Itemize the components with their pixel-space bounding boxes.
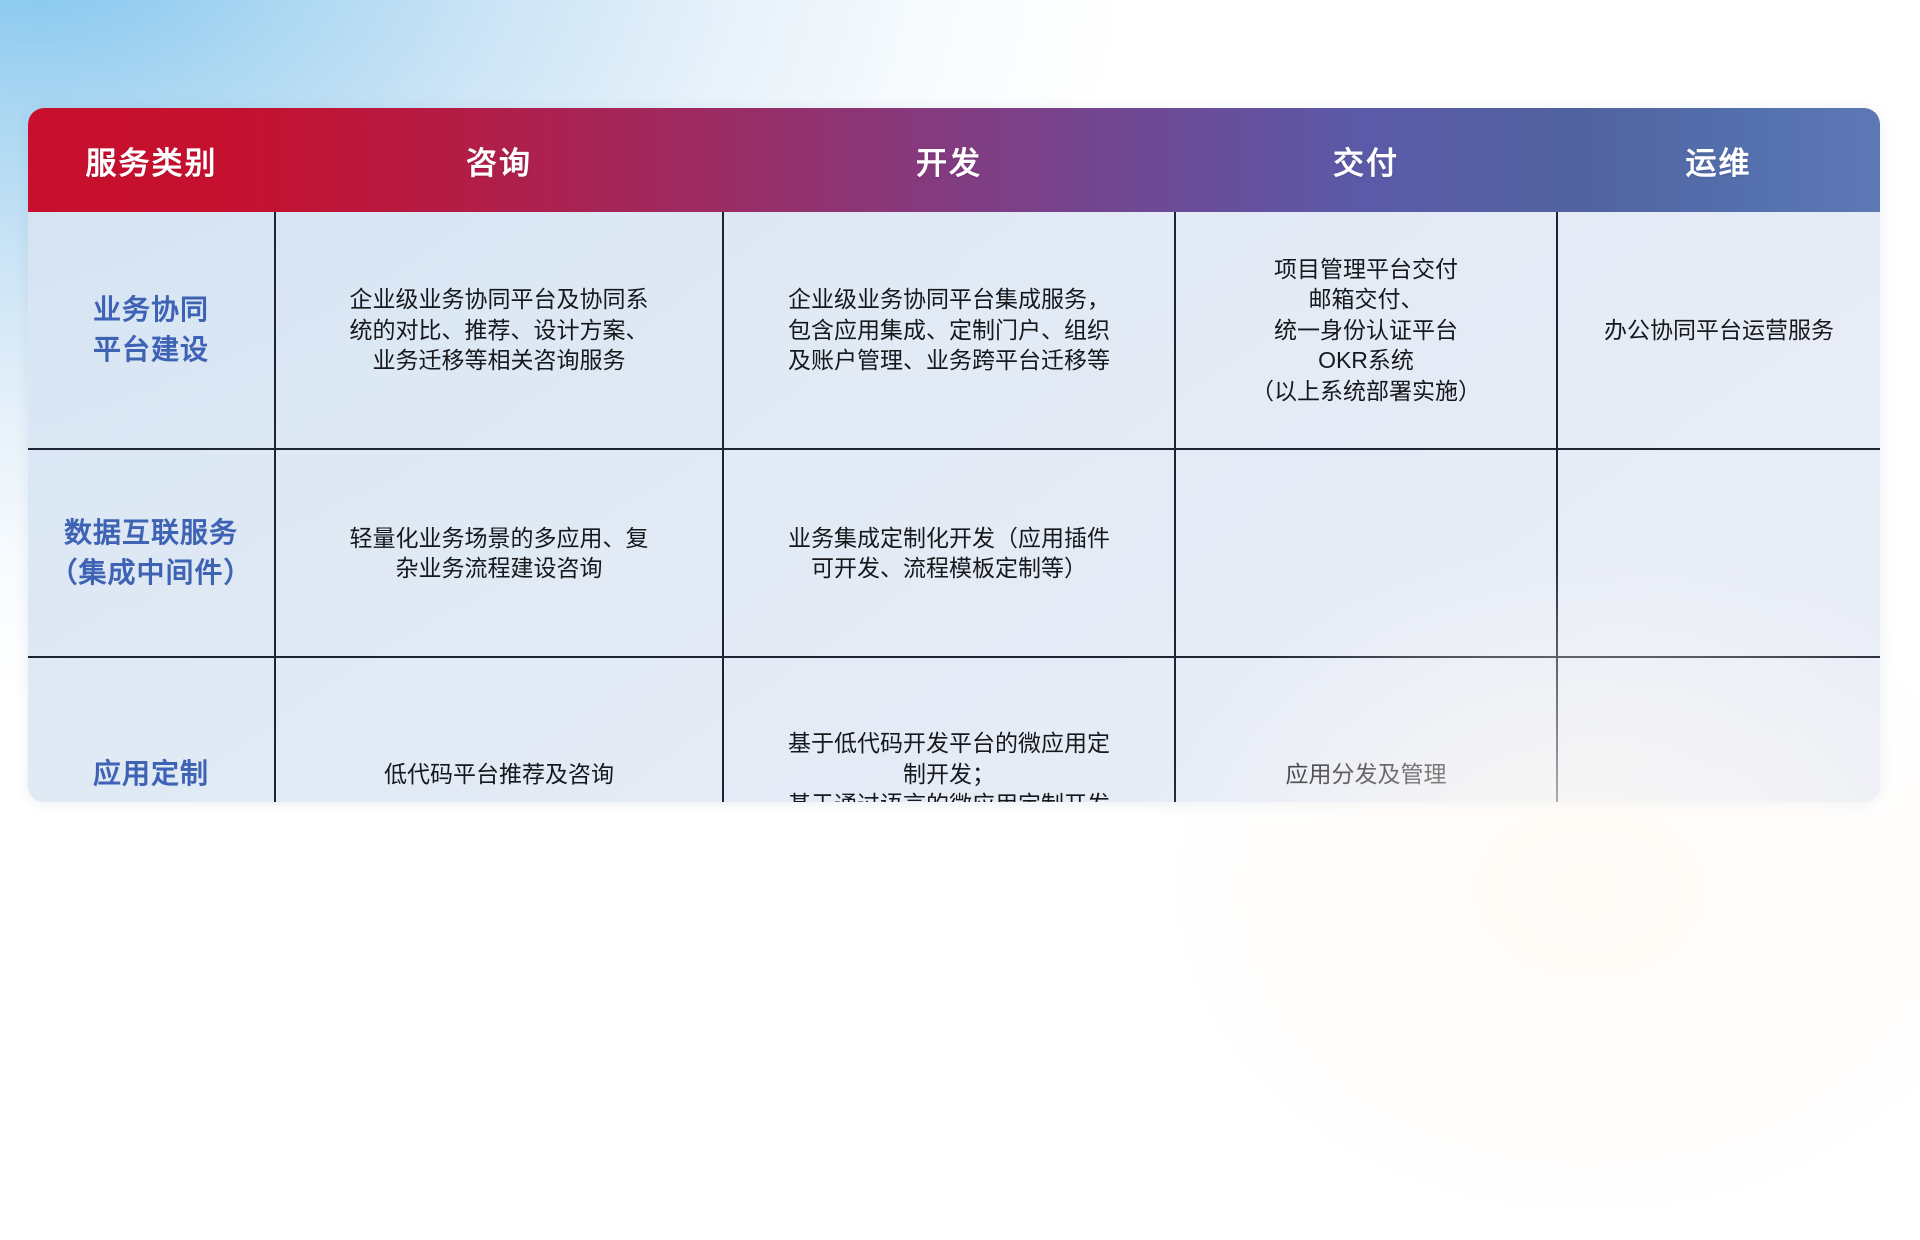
row-category-label: 应用定制 — [28, 657, 275, 802]
cell-operations — [1557, 449, 1880, 657]
cell-consulting: 企业级业务协同平台及协同系 统的对比、推荐、设计方案、 业务迁移等相关咨询服务 — [275, 212, 723, 449]
cell-operations — [1557, 657, 1880, 802]
cell-development: 业务集成定制化开发（应用插件 可开发、流程模板定制等） — [723, 449, 1175, 657]
cell-delivery: 应用分发及管理 — [1175, 657, 1557, 802]
service-matrix-table: 服务类别 咨询 开发 交付 运维 业务协同 平台建设 企业级业务协同平台及协同系… — [28, 108, 1880, 802]
row-category-label: 数据互联服务 （集成中间件） — [28, 449, 275, 657]
column-header-operations: 运维 — [1557, 108, 1880, 212]
cell-delivery — [1175, 449, 1557, 657]
slide-canvas: 服务类别 咨询 开发 交付 运维 业务协同 平台建设 企业级业务协同平台及协同系… — [0, 0, 1920, 1080]
column-header-consulting: 咨询 — [275, 108, 723, 212]
cell-development: 基于低代码开发平台的微应用定 制开发； 基于通过语言的微应用定制开发 — [723, 657, 1175, 802]
table-body: 业务协同 平台建设 企业级业务协同平台及协同系 统的对比、推荐、设计方案、 业务… — [28, 212, 1880, 802]
table-row: 业务协同 平台建设 企业级业务协同平台及协同系 统的对比、推荐、设计方案、 业务… — [28, 212, 1880, 449]
cell-development: 企业级业务协同平台集成服务， 包含应用集成、定制门户、组织 及账户管理、业务跨平… — [723, 212, 1175, 449]
column-header-delivery: 交付 — [1175, 108, 1557, 212]
cell-delivery: 项目管理平台交付 邮箱交付、 统一身份认证平台 OKR系统 （以上系统部署实施） — [1175, 212, 1557, 449]
table-header: 服务类别 咨询 开发 交付 运维 — [28, 108, 1880, 212]
table-row: 应用定制 低代码平台推荐及咨询 基于低代码开发平台的微应用定 制开发； 基于通过… — [28, 657, 1880, 802]
cell-operations: 办公协同平台运营服务 — [1557, 212, 1880, 449]
service-matrix-panel: 服务类别 咨询 开发 交付 运维 业务协同 平台建设 企业级业务协同平台及协同系… — [28, 108, 1880, 802]
cell-consulting: 轻量化业务场景的多应用、复 杂业务流程建设咨询 — [275, 449, 723, 657]
column-header-development: 开发 — [723, 108, 1175, 212]
table-row: 数据互联服务 （集成中间件） 轻量化业务场景的多应用、复 杂业务流程建设咨询 业… — [28, 449, 1880, 657]
cell-consulting: 低代码平台推荐及咨询 — [275, 657, 723, 802]
header-row: 服务类别 咨询 开发 交付 运维 — [28, 108, 1880, 212]
column-header-service-category: 服务类别 — [28, 108, 275, 212]
row-category-label: 业务协同 平台建设 — [28, 212, 275, 449]
